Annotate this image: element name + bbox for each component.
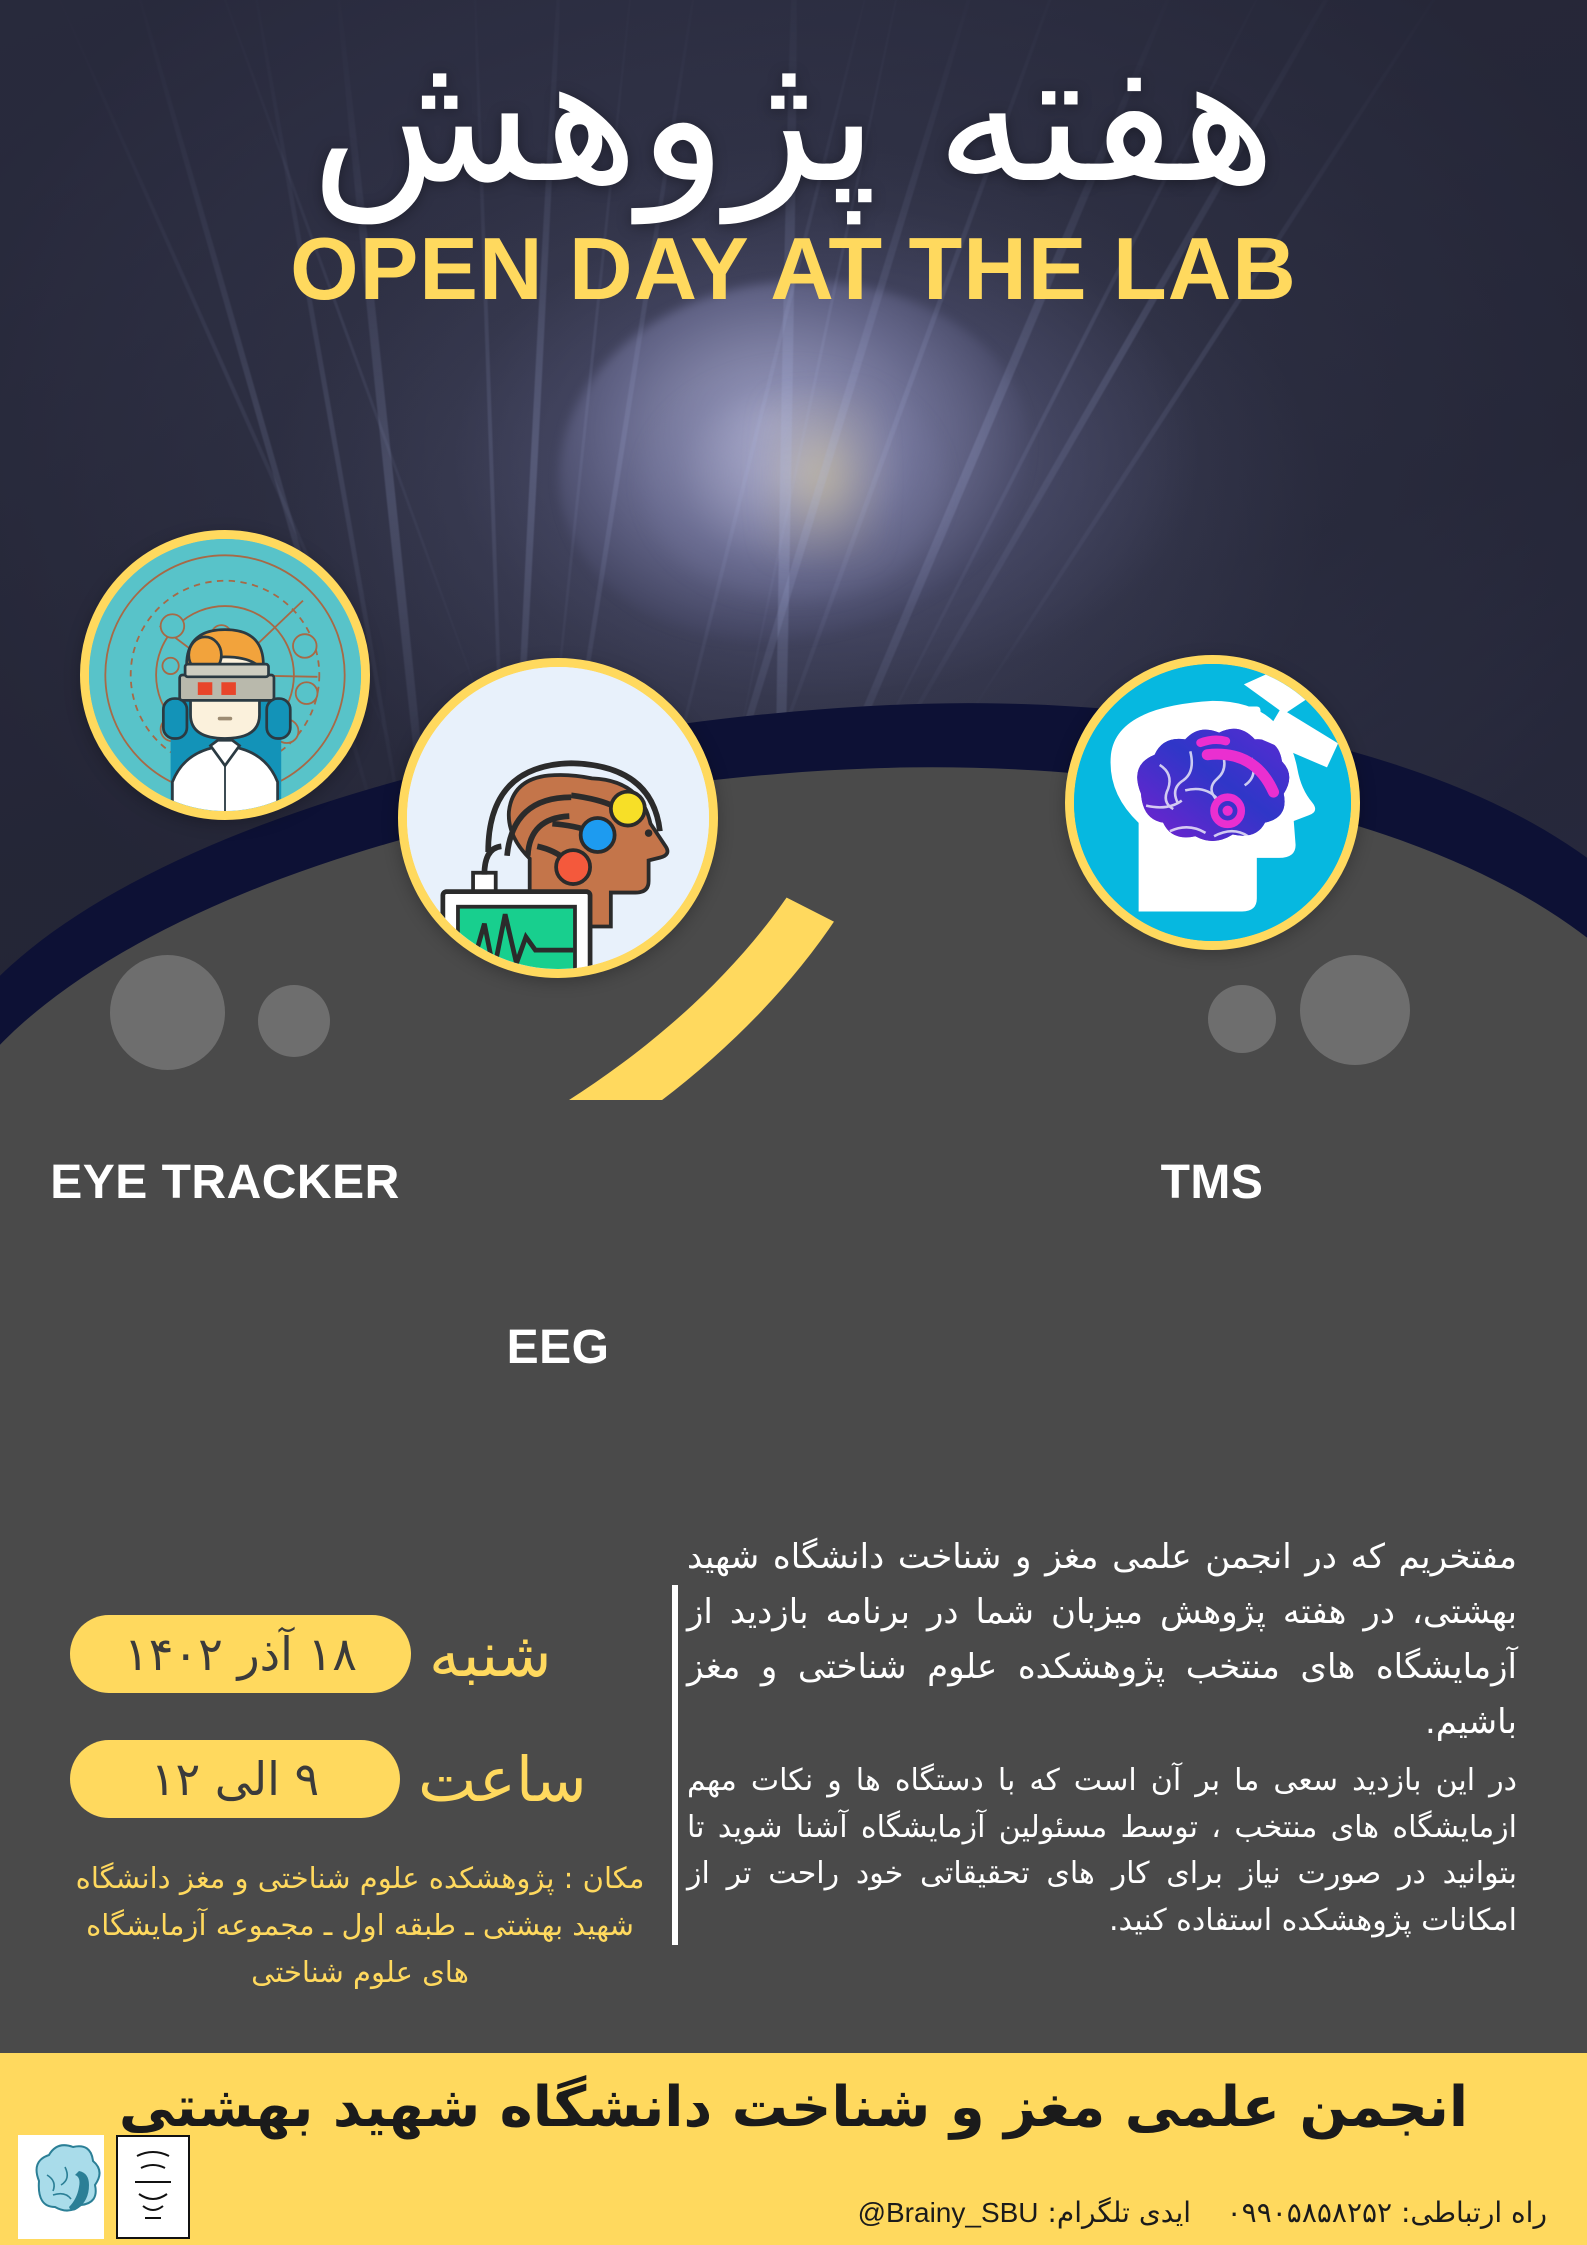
decor-bubble bbox=[110, 955, 225, 1070]
logo-group bbox=[18, 2135, 190, 2239]
contact-line: راه ارتباطی: ۰۹۹۰۵۸۵۸۲۵۲ ایدی تلگرام: @B… bbox=[858, 2196, 1547, 2229]
contact-label: راه ارتباطی: bbox=[1401, 2196, 1547, 2229]
footer-bar: انجمن علمی مغز و شناخت دانشگاه شهید بهشت… bbox=[0, 2053, 1587, 2245]
description-paragraph-1: مفتخریم که در انجمن علمی مغز و شناخت دان… bbox=[687, 1530, 1517, 1750]
telegram-handle[interactable]: @Brainy_SBU bbox=[858, 2197, 1039, 2229]
eye-tracker-icon bbox=[80, 530, 370, 820]
vertical-divider bbox=[672, 1585, 678, 1945]
decor-bubble bbox=[1300, 955, 1410, 1065]
poster-root: هفته پژوهش OPEN DAY AT THE LAB bbox=[0, 0, 1587, 2245]
description-paragraph-2: در این بازدید سعی ما بر آن است که با دست… bbox=[687, 1758, 1517, 1944]
description-block: مفتخریم که در انجمن علمی مغز و شناخت دان… bbox=[687, 1530, 1517, 1952]
page-title-farsi: هفته پژوهش bbox=[0, 22, 1587, 213]
eeg-label: EEG bbox=[398, 1320, 718, 1375]
day-label: شنبه bbox=[429, 1618, 552, 1691]
date-pill: ۱۸ آذر ۱۴۰۲ bbox=[70, 1615, 411, 1693]
time-row: ساعت ۹ الی ۱۲ bbox=[70, 1740, 587, 1818]
venue-text: مکان : پژوهشکده علوم شناختی و مغز دانشگا… bbox=[60, 1855, 660, 1996]
brainy-club-logo bbox=[18, 2135, 104, 2239]
tms-label: TMS bbox=[1062, 1155, 1362, 1210]
decor-bubble bbox=[1208, 985, 1276, 1053]
time-label: ساعت bbox=[418, 1743, 587, 1816]
tms-icon bbox=[1065, 655, 1360, 950]
eeg-icon bbox=[398, 658, 718, 978]
contact-phone: ۰۹۹۰۵۸۵۸۲۵۲ bbox=[1227, 2196, 1392, 2229]
date-row: شنبه ۱۸ آذر ۱۴۰۲ bbox=[70, 1615, 552, 1693]
decor-bubble bbox=[258, 985, 330, 1057]
telegram-label: ایدی تلگرام: bbox=[1047, 2196, 1191, 2229]
eye-tracker-label: EYE TRACKER bbox=[40, 1155, 410, 1210]
time-pill: ۹ الی ۱۲ bbox=[70, 1740, 400, 1818]
page-subtitle-english: OPEN DAY AT THE LAB bbox=[0, 218, 1587, 320]
organization-name: انجمن علمی مغز و شناخت دانشگاه شهید بهشت… bbox=[0, 2075, 1587, 2140]
sbu-university-logo bbox=[116, 2135, 190, 2239]
